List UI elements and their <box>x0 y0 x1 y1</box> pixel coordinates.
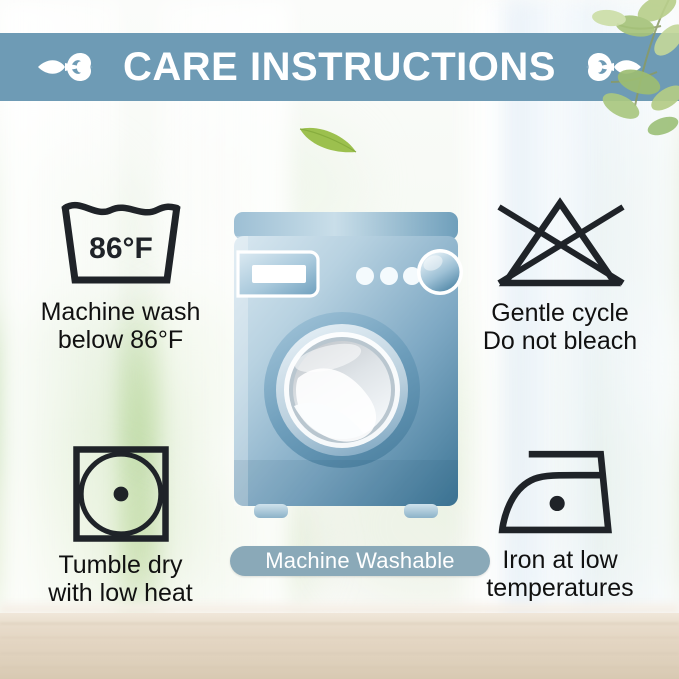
instruction-label-tumble-dry: Tumble dry with low heat <box>8 551 233 608</box>
do-not-bleach-triangle-icon <box>446 193 674 293</box>
wash-temperature-value: 86°F <box>89 232 153 265</box>
badge-label: Machine Washable <box>265 548 454 574</box>
instruction-iron-low: Iron at low temperatures <box>446 448 674 603</box>
instruction-label-iron: Iron at low temperatures <box>446 546 674 603</box>
washing-machine-illustration <box>228 210 464 540</box>
instruction-machine-wash: 86°F Machine wash below 86°F <box>8 196 233 355</box>
fleur-de-lis-icon-right <box>582 45 642 89</box>
care-instructions-infographic: CARE INSTRUCTIONS <box>0 0 679 679</box>
instruction-label-machine-wash: Machine wash below 86°F <box>8 298 233 355</box>
page-title: CARE INSTRUCTIONS <box>123 45 556 90</box>
instruction-tumble-dry: Tumble dry with low heat <box>8 443 233 608</box>
leaf-icon <box>296 118 360 158</box>
instruction-gentle-cycle-no-bleach: Gentle cycle Do not bleach <box>446 193 674 356</box>
fleur-de-lis-icon-left <box>37 45 97 89</box>
tumble-dry-low-icon <box>8 443 233 545</box>
wooden-table-surface <box>0 613 679 679</box>
instruction-label-gentle-cycle: Gentle cycle Do not bleach <box>446 299 674 356</box>
wash-tub-icon: 86°F <box>8 196 233 292</box>
iron-low-heat-icon <box>446 448 674 540</box>
header-banner: CARE INSTRUCTIONS <box>0 33 679 101</box>
